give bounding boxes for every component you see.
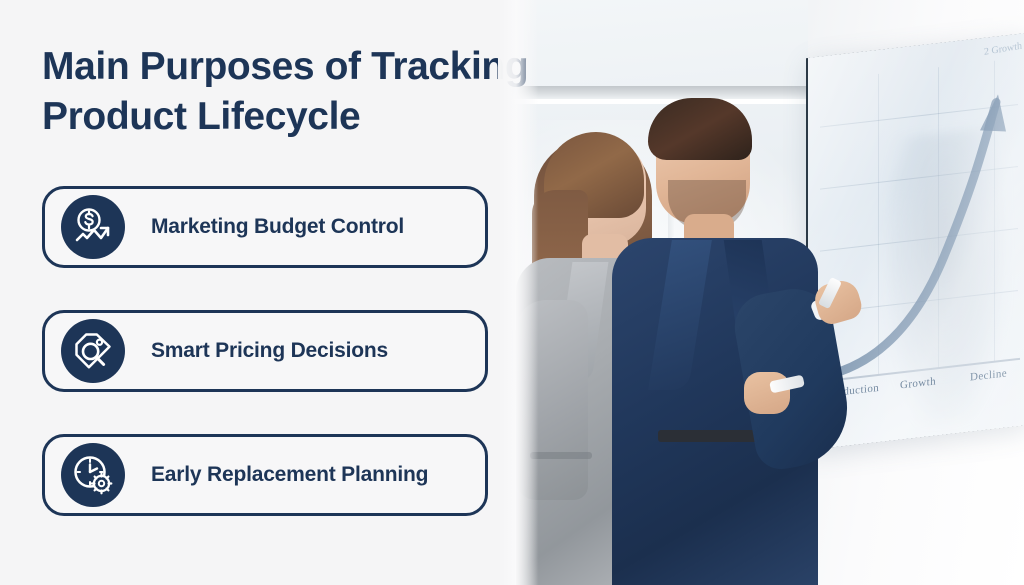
purpose-card-marketing-budget-control[interactable]: Marketing Budget Control xyxy=(42,186,488,268)
man-hair xyxy=(648,98,752,160)
infographic-canvas: Introduction Growth Decline 2 Growth xyxy=(0,0,1024,585)
price-tag-magnifier-icon xyxy=(61,319,125,383)
purpose-card-label: Early Replacement Planning xyxy=(151,463,428,487)
purpose-card-smart-pricing-decisions[interactable]: Smart Pricing Decisions xyxy=(42,310,488,392)
purpose-card-label: Marketing Budget Control xyxy=(151,215,404,239)
woman-jacket-pocket xyxy=(530,452,592,459)
woman-arm xyxy=(516,300,588,500)
page-title: Main Purposes of Tracking Product Lifecy… xyxy=(42,42,562,142)
clock-gear-icon xyxy=(61,443,125,507)
left-content-panel: Main Purposes of Tracking Product Lifecy… xyxy=(0,0,512,585)
purpose-card-early-replacement-planning[interactable]: Early Replacement Planning xyxy=(42,434,488,516)
dollar-growth-icon xyxy=(61,195,125,259)
purpose-card-list: Marketing Budget Control Smart Pricing D… xyxy=(42,186,488,516)
hero-photo: Introduction Growth Decline 2 Growth xyxy=(508,0,1024,585)
purpose-card-label: Smart Pricing Decisions xyxy=(151,339,388,363)
